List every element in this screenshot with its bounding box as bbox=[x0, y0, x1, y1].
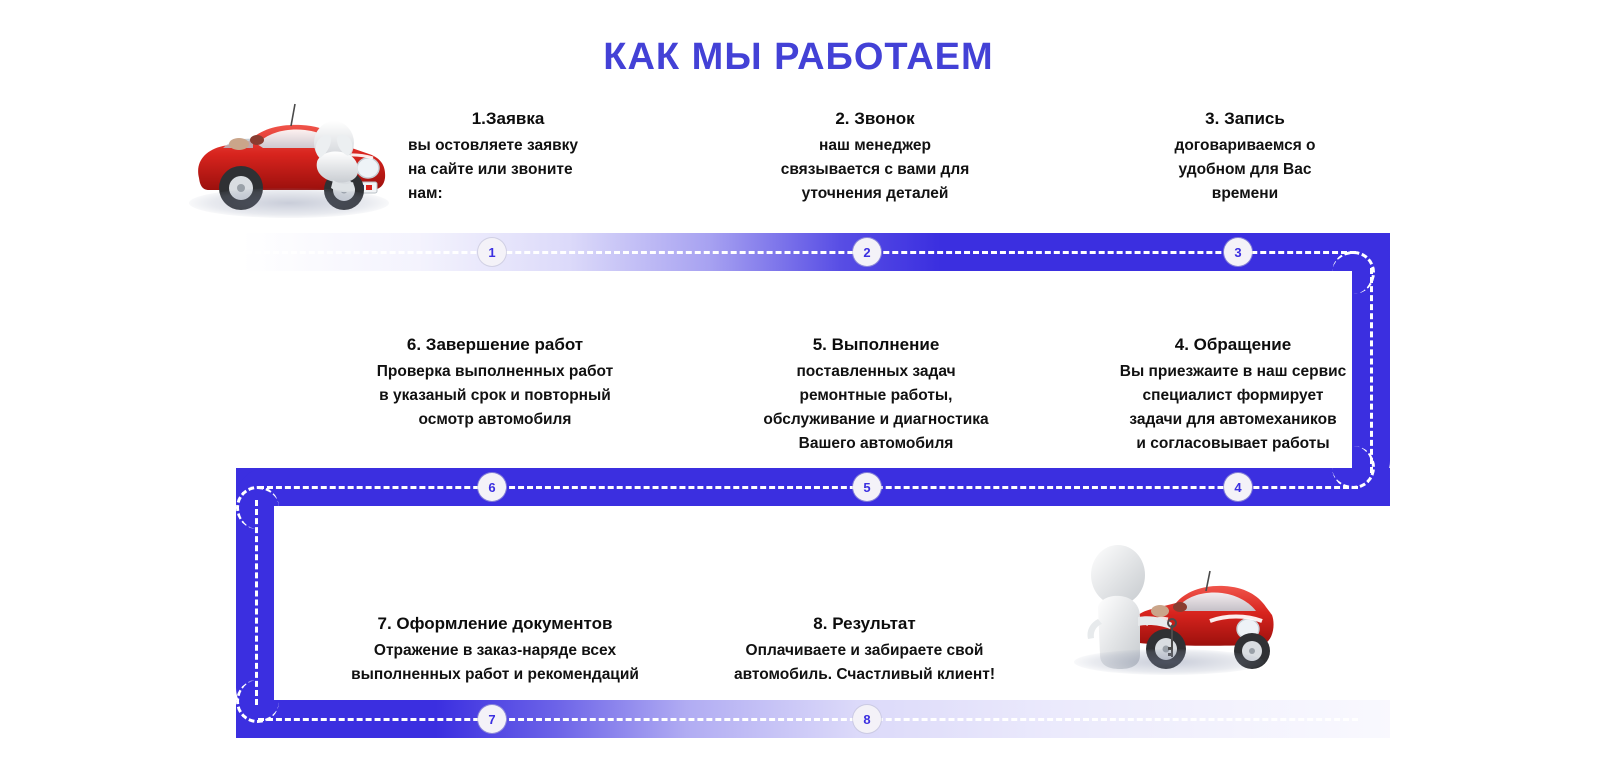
car-seat-rear bbox=[229, 138, 249, 150]
step-badge-5-label: 5 bbox=[863, 480, 870, 495]
dashed-corner-bottom-left bbox=[236, 680, 279, 723]
dashed-corner-top-left bbox=[236, 486, 279, 529]
step-1: 1.Заявка вы остовляете заявку на сайте и… bbox=[408, 108, 608, 206]
step-3-line-2: удобном для Вас bbox=[1145, 158, 1345, 182]
dashed-line-row2 bbox=[258, 486, 1358, 489]
dashed-line-left-turn bbox=[255, 500, 258, 705]
step-8-body: Оплачиваете и забираете свой автомобиль.… bbox=[722, 639, 1007, 687]
step-7-body: Отражение в заказ-наряде всех выполненны… bbox=[330, 639, 660, 687]
step-7-line-1: Отражение в заказ-наряде всех bbox=[330, 639, 660, 663]
step-4: 4. Обращение Вы приезжаите в наш сервис … bbox=[1102, 334, 1364, 456]
step-badge-7-label: 7 bbox=[488, 712, 495, 727]
car-shadow-2 bbox=[1074, 649, 1264, 675]
step-1-line-2: на сайте или звоните bbox=[408, 158, 608, 182]
step-badge-8[interactable]: 8 bbox=[853, 705, 881, 733]
dashed-line-right-turn bbox=[1370, 268, 1373, 473]
step-7-line-2: выполненных работ и рекомендаций bbox=[330, 663, 660, 687]
step-1-heading: 1.Заявка bbox=[408, 108, 608, 130]
step-badge-5[interactable]: 5 bbox=[853, 473, 881, 501]
step-badge-2-label: 2 bbox=[863, 245, 870, 260]
car-headlight bbox=[357, 158, 379, 178]
step-5-line-4: Вашего автомобиля bbox=[742, 432, 1010, 456]
car-seat-front-2 bbox=[1173, 602, 1187, 612]
step-badge-7[interactable]: 7 bbox=[478, 705, 506, 733]
step-badge-3[interactable]: 3 bbox=[1224, 238, 1252, 266]
step-6-heading: 6. Завершение работ bbox=[355, 334, 635, 356]
step-2-line-2: связывается с вами для bbox=[768, 158, 982, 182]
step-2-heading: 2. Звонок bbox=[768, 108, 982, 130]
step-4-line-3: задачи для автомехаников bbox=[1102, 408, 1364, 432]
step-4-body: Вы приезжаите в наш сервис специалист фо… bbox=[1102, 360, 1364, 456]
step-5: 5. Выполнение поставленных задач ремонтн… bbox=[742, 334, 1010, 456]
step-1-body: вы остовляете заявку на сайте или звонит… bbox=[408, 134, 608, 206]
red-convertible-with-frustrated-figure bbox=[183, 96, 398, 221]
step-8-line-2: автомобиль. Счастливый клиент! bbox=[722, 663, 1007, 687]
step-badge-8-label: 8 bbox=[863, 712, 870, 727]
step-4-heading: 4. Обращение bbox=[1102, 334, 1364, 356]
step-6-line-1: Проверка выполненных работ bbox=[355, 360, 635, 384]
step-2-line-3: уточнения деталей bbox=[768, 182, 982, 206]
step-6-line-3: осмотр автомобиля bbox=[355, 408, 635, 432]
step-8: 8. Результат Оплачиваете и забираете сво… bbox=[722, 613, 1007, 687]
step-3-heading: 3. Запись bbox=[1145, 108, 1345, 130]
step-2: 2. Звонок наш менеджер связывается с вам… bbox=[768, 108, 982, 206]
red-convertible-with-happy-customer bbox=[1060, 533, 1275, 678]
car-seat-front bbox=[250, 135, 264, 145]
step-4-line-4: и согласовывает работы bbox=[1102, 432, 1364, 456]
car-antenna bbox=[291, 104, 295, 126]
step-8-heading: 8. Результат bbox=[722, 613, 1007, 635]
step-5-line-1: поставленных задач bbox=[742, 360, 1010, 384]
step-3-line-3: времени bbox=[1145, 182, 1345, 206]
infographic-canvas: КАК МЫ РАБОТАЕМ 1 2 3 4 5 6 7 8 1.Заявка… bbox=[0, 0, 1597, 781]
step-7-heading: 7. Оформление документов bbox=[330, 613, 660, 635]
step-1-line-3: нам: bbox=[408, 182, 608, 206]
step-3-body: договариваемся о удобном для Вас времени bbox=[1145, 134, 1345, 206]
step-5-line-3: обслуживание и диагностика bbox=[742, 408, 1010, 432]
step-2-body: наш менеджер связывается с вами для уточ… bbox=[768, 134, 982, 206]
step-badge-1[interactable]: 1 bbox=[478, 238, 506, 266]
step-5-heading: 5. Выполнение bbox=[742, 334, 1010, 356]
car-seat-rear-2 bbox=[1151, 605, 1169, 617]
car-shadow bbox=[189, 188, 389, 218]
step-8-line-1: Оплачиваете и забираете свой bbox=[722, 639, 1007, 663]
step-badge-6-label: 6 bbox=[488, 480, 495, 495]
step-5-body: поставленных задач ремонтные работы, обс… bbox=[742, 360, 1010, 456]
step-4-line-1: Вы приезжаите в наш сервис bbox=[1102, 360, 1364, 384]
step-badge-6[interactable]: 6 bbox=[478, 473, 506, 501]
step-6-body: Проверка выполненных работ в указаный ср… bbox=[355, 360, 635, 432]
step-badge-4[interactable]: 4 bbox=[1224, 473, 1252, 501]
step-4-line-2: специалист формирует bbox=[1102, 384, 1364, 408]
step-1-line-1: вы остовляете заявку bbox=[408, 134, 608, 158]
dashed-line-row3 bbox=[258, 718, 1358, 721]
page-title: КАК МЫ РАБОТАЕМ bbox=[0, 36, 1597, 79]
step-2-line-1: наш менеджер bbox=[768, 134, 982, 158]
step-6-line-2: в указаный срок и повторный bbox=[355, 384, 635, 408]
step-badge-1-label: 1 bbox=[488, 245, 495, 260]
step-6: 6. Завершение работ Проверка выполненных… bbox=[355, 334, 635, 432]
step-3: 3. Запись договариваемся о удобном для В… bbox=[1145, 108, 1345, 206]
dashed-line-row1 bbox=[246, 251, 1356, 254]
step-badge-3-label: 3 bbox=[1234, 245, 1241, 260]
step-5-line-2: ремонтные работы, bbox=[742, 384, 1010, 408]
step-badge-2[interactable]: 2 bbox=[853, 238, 881, 266]
step-badge-4-label: 4 bbox=[1234, 480, 1241, 495]
step-3-line-1: договариваемся о bbox=[1145, 134, 1345, 158]
dashed-corner-top-right bbox=[1332, 251, 1375, 294]
step-7: 7. Оформление документов Отражение в зак… bbox=[330, 613, 660, 687]
